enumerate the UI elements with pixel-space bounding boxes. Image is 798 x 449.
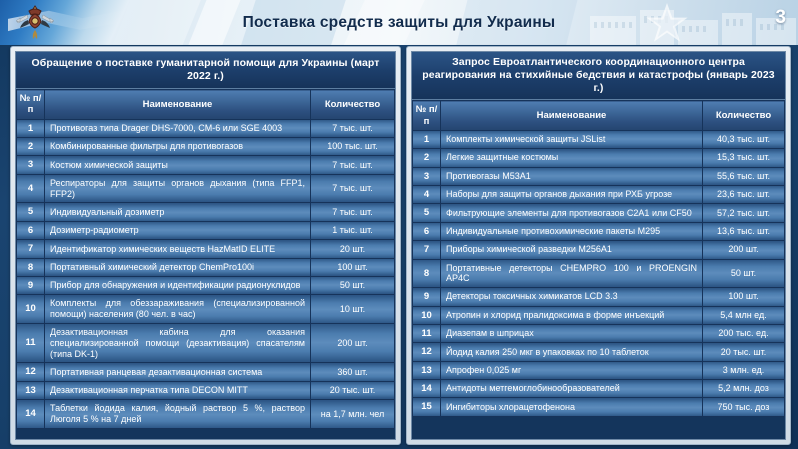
table-header-row: № п/п Наименование Количество [17, 90, 395, 119]
cell-qty: 200 шт. [311, 323, 395, 362]
cell-num: 1 [17, 119, 45, 137]
right-table: № п/п Наименование Количество 1Комплекты… [412, 100, 785, 416]
cell-qty: 100 шт. [703, 288, 785, 306]
table-row: 5Фильтрующие элементы для противогазов C… [413, 204, 785, 222]
cell-qty: 15,3 тыс. шт. [703, 149, 785, 167]
cell-name: Комбинированные фильтры для противогазов [45, 138, 311, 156]
table-row: 12Портативная ранцевая дезактивационная … [17, 363, 395, 381]
cell-name: Портативная ранцевая дезактивационная си… [45, 363, 311, 381]
right-table-panel: Запрос Евроатлантического координационно… [406, 46, 791, 445]
page-title: Поставка средств защиты для Украины [0, 0, 798, 45]
cell-qty: 1 тыс. шт. [311, 221, 395, 239]
cell-num: 6 [413, 222, 441, 240]
table-row: 7Приборы химической разведки M256A1200 ш… [413, 241, 785, 259]
table-row: 14Антидоты метгемоглобинообразователей5,… [413, 380, 785, 398]
cell-name: Детекторы токсичных химикатов LCD 3.3 [441, 288, 703, 306]
table-row: 4Наборы для защиты органов дыхания при Р… [413, 185, 785, 203]
cell-name: Респираторы для защиты органов дыхания (… [45, 174, 311, 203]
cell-qty: 7 тыс. шт. [311, 119, 395, 137]
cell-name: Портативные детекторы CHEMPRO 100 и PROE… [441, 259, 703, 288]
cell-name: Дозиметр-радиометр [45, 221, 311, 239]
table-row: 3Костюм химической защиты7 тыс. шт. [17, 156, 395, 174]
table-row: 8Портативный химический детектор ChemPro… [17, 258, 395, 276]
cell-qty: 100 тыс. шт. [311, 138, 395, 156]
cell-qty: 750 тыс. доз [703, 398, 785, 416]
table-row: 11Дезактивационная кабина для оказания с… [17, 323, 395, 362]
left-table-panel: Обращение о поставке гуманитарной помощи… [10, 46, 401, 445]
cell-num: 14 [17, 400, 45, 429]
table-row: 8Портативные детекторы CHEMPRO 100 и PRO… [413, 259, 785, 288]
cell-qty: 100 шт. [311, 258, 395, 276]
cell-name: Индивидуальный дозиметр [45, 203, 311, 221]
table-row: 6Дозиметр-радиометр1 тыс. шт. [17, 221, 395, 239]
cell-name: Противогазы M53A1 [441, 167, 703, 185]
table-row: 9Прибор для обнаружения и идентификации … [17, 276, 395, 294]
cell-qty: 20 тыс. шт. [311, 381, 395, 399]
cell-qty: 7 тыс. шт. [311, 203, 395, 221]
table-row: 13Дезактивационная перчатка типа DECON M… [17, 381, 395, 399]
cell-num: 7 [17, 240, 45, 258]
table-row: 13Апрофен 0,025 мг3 млн. ед. [413, 361, 785, 379]
cell-qty: 50 шт. [703, 259, 785, 288]
cell-qty: 360 шт. [311, 363, 395, 381]
cell-num: 13 [413, 361, 441, 379]
cell-name: Дезактивационная кабина для оказания спе… [45, 323, 311, 362]
cell-qty: на 1,7 млн. чел [311, 400, 395, 429]
cell-qty: 5,2 млн. доз [703, 380, 785, 398]
table-row: 11Диазепам в шприцах200 тыс. ед. [413, 324, 785, 342]
cell-name: Комплекты химической защиты JSList [441, 130, 703, 148]
table-row: 2Легкие защитные костюмы15,3 тыс. шт. [413, 149, 785, 167]
cell-name: Атропин и хлорид пралидоксима в форме ин… [441, 306, 703, 324]
table-row: 14Таблетки йодида калия, йодный раствор … [17, 400, 395, 429]
left-table: № п/п Наименование Количество 1Противога… [16, 89, 395, 428]
cell-qty: 55,6 тыс. шт. [703, 167, 785, 185]
cell-num: 5 [413, 204, 441, 222]
cell-num: 10 [17, 295, 45, 324]
cell-num: 12 [413, 343, 441, 361]
cell-num: 7 [413, 241, 441, 259]
cell-name: Противогаз типа Drager DHS-7000, CM-6 ил… [45, 119, 311, 137]
cell-name: Наборы для защиты органов дыхания при РХ… [441, 185, 703, 203]
cell-qty: 50 шт. [311, 276, 395, 294]
cell-qty: 23,6 тыс. шт. [703, 185, 785, 203]
cell-name: Легкие защитные костюмы [441, 149, 703, 167]
col-header-name: Наименование [441, 101, 703, 130]
cell-num: 4 [17, 174, 45, 203]
table-header-row: № п/п Наименование Количество [413, 101, 785, 130]
cell-qty: 7 тыс. шт. [311, 174, 395, 203]
cell-qty: 20 тыс. шт. [703, 343, 785, 361]
table-row: 2Комбинированные фильтры для противогазо… [17, 138, 395, 156]
cell-name: Портативный химический детектор ChemPro1… [45, 258, 311, 276]
table-row: 4Респираторы для защиты органов дыхания … [17, 174, 395, 203]
table-row: 10Атропин и хлорид пралидоксима в форме … [413, 306, 785, 324]
cell-name: Дезактивационная перчатка типа DECON MIT… [45, 381, 311, 399]
cell-num: 11 [17, 323, 45, 362]
cell-num: 2 [413, 149, 441, 167]
cell-num: 3 [413, 167, 441, 185]
cell-num: 12 [17, 363, 45, 381]
cell-num: 9 [413, 288, 441, 306]
cell-name: Прибор для обнаружения и идентификации р… [45, 276, 311, 294]
col-header-qty: Количество [311, 90, 395, 119]
left-table-caption: Обращение о поставке гуманитарной помощи… [16, 52, 395, 89]
table-row: 5Индивидуальный дозиметр7 тыс. шт. [17, 203, 395, 221]
cell-num: 10 [413, 306, 441, 324]
table-row: 1Комплекты химической защиты JSList40,3 … [413, 130, 785, 148]
table-row: 10Комплекты для обеззараживания (специал… [17, 295, 395, 324]
cell-num: 8 [17, 258, 45, 276]
slide: Поставка средств защиты для Украины 3 Об… [0, 0, 798, 449]
cell-name: Апрофен 0,025 мг [441, 361, 703, 379]
table-row: 7Идентификатор химических веществ HazMat… [17, 240, 395, 258]
cell-num: 9 [17, 276, 45, 294]
cell-num: 8 [413, 259, 441, 288]
cell-num: 2 [17, 138, 45, 156]
header-banner: Поставка средств защиты для Украины 3 [0, 0, 798, 45]
cell-name: Костюм химической защиты [45, 156, 311, 174]
cell-num: 11 [413, 324, 441, 342]
table-row: 3Противогазы M53A155,6 тыс. шт. [413, 167, 785, 185]
cell-qty: 40,3 тыс. шт. [703, 130, 785, 148]
cell-qty: 7 тыс. шт. [311, 156, 395, 174]
cell-name: Ингибиторы хлорацетофенона [441, 398, 703, 416]
cell-num: 5 [17, 203, 45, 221]
page-number: 3 [775, 7, 786, 29]
col-header-name: Наименование [45, 90, 311, 119]
table-row: 1Противогаз типа Drager DHS-7000, CM-6 и… [17, 119, 395, 137]
cell-qty: 10 шт. [311, 295, 395, 324]
cell-name: Диазепам в шприцах [441, 324, 703, 342]
cell-qty: 3 млн. ед. [703, 361, 785, 379]
right-table-caption: Запрос Евроатлантического координационно… [412, 52, 785, 100]
cell-name: Приборы химической разведки M256A1 [441, 241, 703, 259]
cell-qty: 5,4 млн ед. [703, 306, 785, 324]
cell-name: Йодид калия 250 мкг в упаковках по 10 та… [441, 343, 703, 361]
cell-name: Идентификатор химических веществ HazMatI… [45, 240, 311, 258]
cell-qty: 200 шт. [703, 241, 785, 259]
cell-name: Таблетки йодида калия, йодный раствор 5 … [45, 400, 311, 429]
col-header-num: № п/п [413, 101, 441, 130]
cell-qty: 57,2 тыс. шт. [703, 204, 785, 222]
table-row: 6Индивидуальные противохимические пакеты… [413, 222, 785, 240]
cell-qty: 13,6 тыс. шт. [703, 222, 785, 240]
cell-name: Комплекты для обеззараживания (специализ… [45, 295, 311, 324]
cell-num: 15 [413, 398, 441, 416]
table-row: 15Ингибиторы хлорацетофенона750 тыс. доз [413, 398, 785, 416]
cell-num: 4 [413, 185, 441, 203]
cell-num: 1 [413, 130, 441, 148]
cell-name: Индивидуальные противохимические пакеты … [441, 222, 703, 240]
cell-num: 3 [17, 156, 45, 174]
col-header-num: № п/п [17, 90, 45, 119]
cell-num: 13 [17, 381, 45, 399]
cell-name: Фильтрующие элементы для противогазов C2… [441, 204, 703, 222]
cell-qty: 20 шт. [311, 240, 395, 258]
cell-qty: 200 тыс. ед. [703, 324, 785, 342]
col-header-qty: Количество [703, 101, 785, 130]
cell-num: 6 [17, 221, 45, 239]
cell-num: 14 [413, 380, 441, 398]
table-row: 12Йодид калия 250 мкг в упаковках по 10 … [413, 343, 785, 361]
cell-name: Антидоты метгемоглобинообразователей [441, 380, 703, 398]
table-row: 9Детекторы токсичных химикатов LCD 3.310… [413, 288, 785, 306]
